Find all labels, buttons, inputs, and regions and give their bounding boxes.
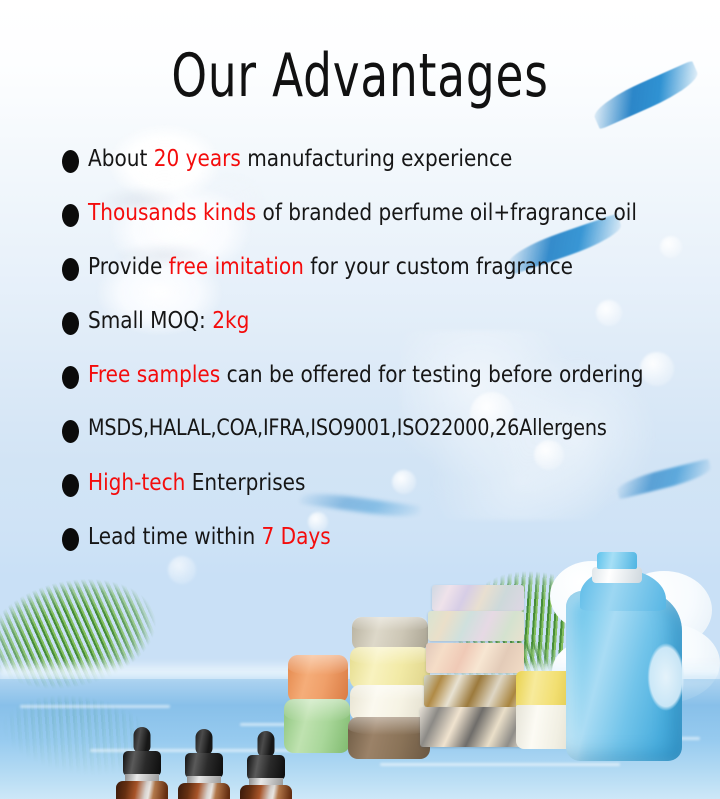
bullet-icon xyxy=(62,258,79,281)
stacked-round-soap xyxy=(348,717,430,759)
our-advantages-banner: Our Advantages About 20 years manufactur… xyxy=(0,0,720,799)
advantage-item: High-tech Enterprises xyxy=(62,470,662,524)
highlight-text: 2kg xyxy=(212,308,249,334)
bullet-icon xyxy=(62,420,79,443)
plain-text: manufacturing experience xyxy=(241,146,513,172)
advantage-item: MSDS,HALAL,COA,IFRA,ISO9001,ISO22000,26A… xyxy=(62,416,662,470)
marbled-soap-bar xyxy=(424,675,524,707)
advantage-item: Lead time within 7 Days xyxy=(62,524,662,578)
bullet-icon xyxy=(62,150,79,173)
marbled-soap-bar xyxy=(432,585,524,611)
plain-text: can be offered for testing before orderi… xyxy=(220,362,643,388)
plain-text: MSDS,HALAL,COA,IFRA,ISO9001,ISO22000,26A… xyxy=(88,416,607,441)
highlight-text: 20 years xyxy=(154,146,241,172)
advantage-text: About 20 years manufacturing experience xyxy=(88,146,512,172)
bullet-icon xyxy=(62,528,79,551)
detergent-jug xyxy=(566,553,694,761)
page-title: Our Advantages xyxy=(58,46,663,106)
plain-text: Provide xyxy=(88,254,169,280)
stacked-round-soap xyxy=(350,685,430,721)
plain-text: Lead time within xyxy=(88,524,262,550)
orange-round-soap xyxy=(288,655,348,703)
advantage-text: Provide free imitation for your custom f… xyxy=(88,254,573,280)
highlight-text: High-tech xyxy=(88,470,185,496)
marbled-soap-bar xyxy=(426,643,524,673)
highlight-text: 7 Days xyxy=(262,524,331,550)
advantage-text: MSDS,HALAL,COA,IFRA,ISO9001,ISO22000,26A… xyxy=(88,416,607,442)
highlight-text: Thousands kinds xyxy=(88,200,256,226)
advantage-text: Free samples can be offered for testing … xyxy=(88,362,644,388)
plain-text: Enterprises xyxy=(185,470,305,496)
bullet-icon xyxy=(62,474,79,497)
green-round-soap xyxy=(284,699,350,753)
advantage-text: Thousands kinds of branded perfume oil+f… xyxy=(88,200,637,226)
highlight-text: free imitation xyxy=(169,254,304,280)
advantage-item: Free samples can be offered for testing … xyxy=(62,362,662,416)
stacked-round-soap xyxy=(350,647,430,689)
advantage-item: Provide free imitation for your custom f… xyxy=(62,254,662,308)
advantage-text: Lead time within 7 Days xyxy=(88,524,331,550)
advantage-text: High-tech Enterprises xyxy=(88,470,305,496)
advantage-item: Small MOQ: 2kg xyxy=(62,308,662,362)
bullet-icon xyxy=(62,312,79,335)
stacked-round-soap xyxy=(352,617,428,651)
advantage-item: About 20 years manufacturing experience xyxy=(62,146,662,200)
marbled-soap-bar xyxy=(428,611,524,641)
plain-text: About xyxy=(88,146,154,172)
advantage-text: Small MOQ: 2kg xyxy=(88,308,249,334)
plain-text: for your custom fragrance xyxy=(304,254,573,280)
bullet-icon xyxy=(62,366,79,389)
plain-text: of branded perfume oil+fragrance oil xyxy=(256,200,637,226)
plain-text: Small MOQ: xyxy=(88,308,212,334)
highlight-text: Free samples xyxy=(88,362,220,388)
advantage-item: Thousands kinds of branded perfume oil+f… xyxy=(62,200,662,254)
bullet-icon xyxy=(62,204,79,227)
marbled-soap-bar xyxy=(420,707,524,747)
bokeh-circle xyxy=(660,236,682,258)
advantages-list: About 20 years manufacturing experienceT… xyxy=(62,146,662,578)
